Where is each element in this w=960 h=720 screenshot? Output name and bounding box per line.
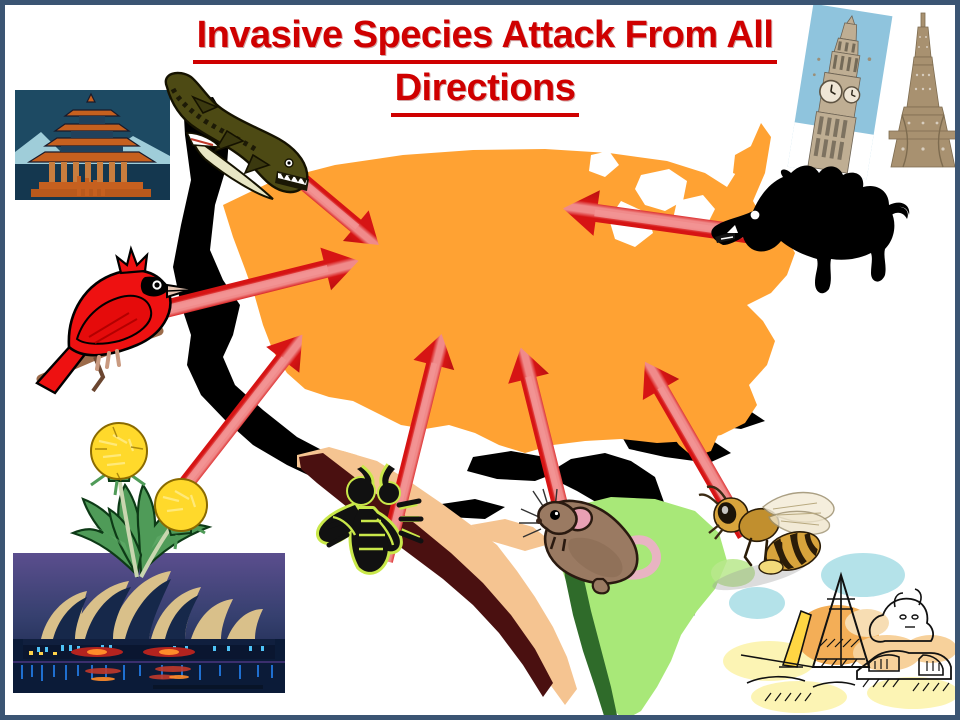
brown-mouse xyxy=(517,483,697,623)
wild-boar xyxy=(705,153,915,298)
snakehead-fish xyxy=(157,67,347,217)
slide-canvas: Invasive Species Attack From All Directi… xyxy=(0,0,960,720)
eiffel-tower xyxy=(887,11,959,171)
dandelion-weed xyxy=(33,405,243,595)
honeybee xyxy=(697,483,847,603)
black-bee-insect xyxy=(301,457,451,587)
red-cardinal-bird xyxy=(33,227,203,402)
